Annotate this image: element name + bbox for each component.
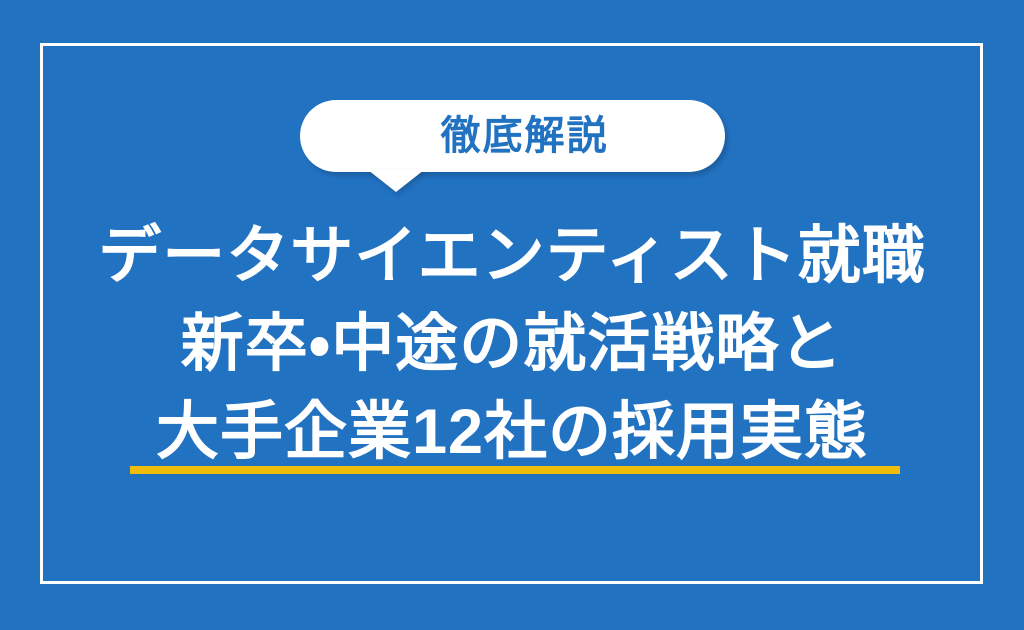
title-line-1: データサイエンティスト就職 [0,212,1024,300]
page-title: データサイエンティスト就職 新卒・中途の就活戦略と 大手企業12社の採用実態 [0,212,1024,476]
title-line-3: 大手企業12社の採用実態 [0,388,1024,476]
title-underline-accent [130,466,900,474]
badge-label: 徹底解説 [417,116,609,156]
callout-badge: 徹底解説 [300,100,725,172]
title-line-2: 新卒・中途の就活戦略と [0,300,1024,388]
badge-pill: 徹底解説 [300,100,725,172]
badge-tail-triangle-icon [368,170,424,192]
thumbnail-canvas: 徹底解説 データサイエンティスト就職 新卒・中途の就活戦略と 大手企業12社の採… [0,0,1024,630]
